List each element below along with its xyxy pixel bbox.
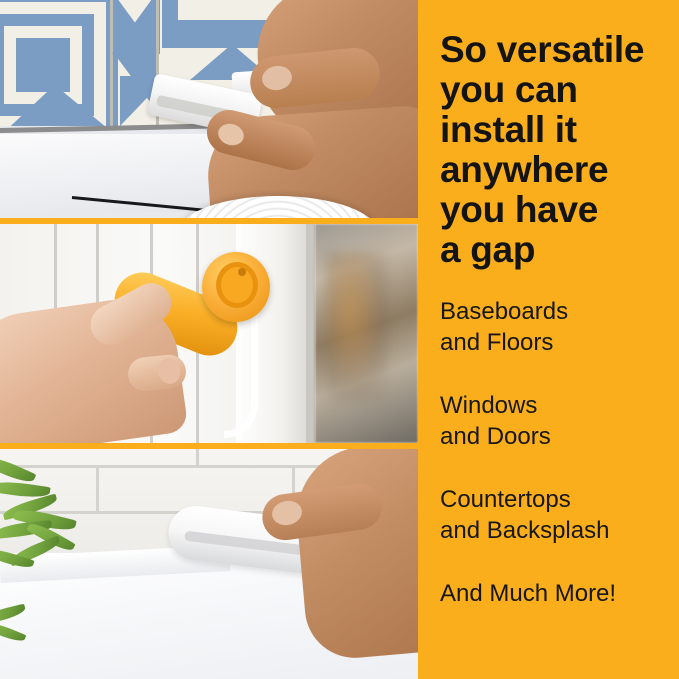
photo-column xyxy=(0,0,418,679)
applicator-tool-vent xyxy=(238,268,246,276)
feature-list: Baseboards and Floors Windows and Doors … xyxy=(440,296,665,609)
photo-countertop-install xyxy=(0,449,418,679)
applicator-tool-ring xyxy=(216,262,258,308)
feature-item-windows: Windows and Doors xyxy=(440,390,665,452)
feature-item-countertops: Countertops and Backsplash xyxy=(440,484,665,546)
window-frame-edge xyxy=(306,224,315,443)
tile-grout-line xyxy=(196,449,199,465)
feature-item-baseboards: Baseboards and Floors xyxy=(440,296,665,358)
glass-reflection xyxy=(326,252,388,402)
feature-item-much-more: And Much More! xyxy=(440,578,665,609)
photo-window-install xyxy=(0,224,418,443)
tile-shape xyxy=(190,44,232,80)
hand xyxy=(291,449,418,662)
photo-backsplash-install xyxy=(0,0,418,218)
tile-grout-line xyxy=(96,465,99,511)
product-feature-infographic: So versatile you can install it anywhere… xyxy=(0,0,679,679)
headline: So versatile you can install it anywhere… xyxy=(440,0,665,270)
text-column: So versatile you can install it anywhere… xyxy=(418,0,679,679)
tile-shape xyxy=(114,0,158,54)
